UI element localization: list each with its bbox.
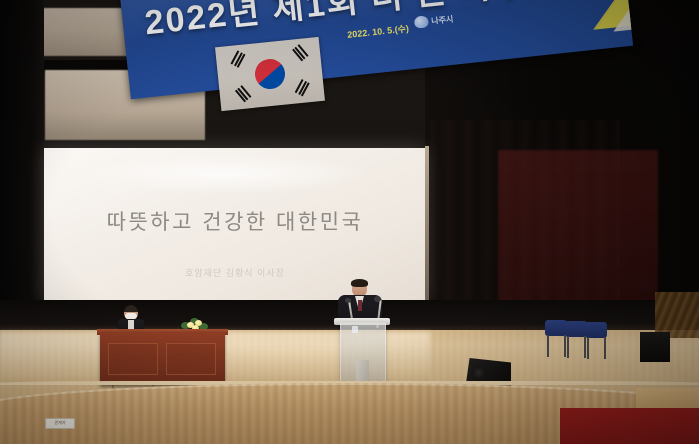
table-panel bbox=[166, 343, 216, 375]
projection-screen: 따뜻하고 건강한 대한민국 호암재단 김황식 이사장 bbox=[44, 148, 426, 300]
microphone-icon bbox=[374, 296, 381, 302]
stage-edge-sign: 관계자 bbox=[45, 418, 75, 429]
chair-legs bbox=[566, 336, 588, 358]
chair-legs bbox=[546, 335, 568, 357]
logo-label: 나주시 bbox=[431, 13, 454, 26]
chair-legs bbox=[586, 337, 608, 359]
taeguk-circle-icon bbox=[254, 58, 287, 91]
projector-glow bbox=[74, 154, 374, 194]
curtain-folds bbox=[430, 120, 620, 330]
stage-edge-sign-label: 관계자 bbox=[46, 419, 74, 427]
stage-monitor-right bbox=[640, 332, 670, 362]
water-glass bbox=[352, 326, 358, 333]
trigram-ri-icon bbox=[233, 85, 251, 104]
trigram-gon-icon bbox=[295, 79, 312, 97]
korean-flag bbox=[215, 37, 325, 111]
speaker-hair bbox=[351, 279, 368, 287]
table-panel bbox=[108, 343, 158, 375]
logo-mark-icon bbox=[414, 15, 429, 28]
speaker-tie bbox=[358, 300, 362, 311]
slide-title: 따뜻하고 건강한 대한민국 bbox=[44, 206, 426, 236]
screen-frame-right bbox=[425, 146, 429, 302]
head-table bbox=[100, 333, 225, 385]
red-carpet bbox=[560, 408, 699, 444]
trigram-gam-icon bbox=[291, 44, 309, 63]
chair bbox=[565, 321, 587, 337]
stage-curtain-left bbox=[0, 0, 44, 300]
auditorium-stage-photo: 특별초청강연 "따뜻하고 건강한 대한민국" 2022년 제1회 더 큰 나주아… bbox=[0, 0, 699, 444]
seated-shirt bbox=[128, 320, 134, 329]
chair bbox=[545, 320, 567, 336]
stage-chairs bbox=[545, 320, 623, 360]
slide-subtitle: 호암재단 김황식 이사장 bbox=[44, 266, 426, 279]
trigram-geon-icon bbox=[230, 50, 247, 68]
microphone-icon bbox=[345, 298, 351, 303]
floor-monitor-grill-icon bbox=[472, 366, 485, 379]
chair bbox=[585, 322, 607, 338]
